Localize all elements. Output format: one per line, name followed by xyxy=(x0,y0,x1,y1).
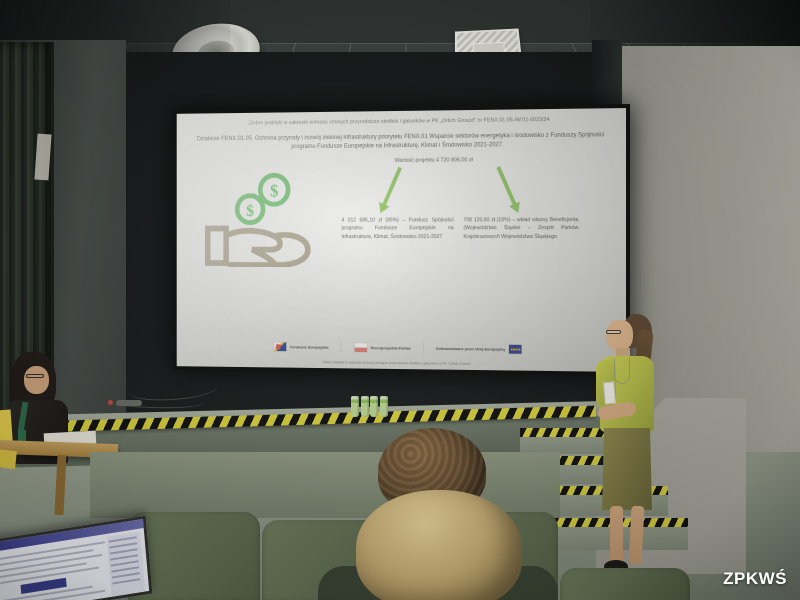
presenter-person xyxy=(592,308,666,600)
svg-text:$: $ xyxy=(270,181,279,201)
presentation-slide: „Dobre praktyki w zakresie ochrony cenny… xyxy=(177,108,626,372)
logo-divider xyxy=(423,343,424,354)
logo-rzeczpospolita-polska: Rzeczpospolita Polska xyxy=(354,342,411,353)
arrow-down-left-icon xyxy=(382,167,402,206)
logo-label: Rzeczpospolita Polska xyxy=(371,345,411,351)
glasses-icon xyxy=(606,330,621,334)
logo-fundusze-europejskie: Fundusze Europejskie xyxy=(273,341,328,352)
water-bottle xyxy=(361,396,369,417)
logo-label: Dofinansowane przez Unię Europejską xyxy=(436,346,505,352)
polish-flag-logo-icon xyxy=(354,342,368,353)
microphone xyxy=(116,400,142,406)
presenter-leg xyxy=(610,506,623,564)
laptop-sidebar xyxy=(106,532,145,597)
slide-title: „Dobre praktyki w zakresie ochrony cenny… xyxy=(186,113,616,128)
audience-head-blond xyxy=(356,490,522,600)
logo-dofinansowane-ue: Dofinansowane przez Unię Europejską ★★★★ xyxy=(436,343,522,355)
watermark: ZPKWŚ xyxy=(723,569,787,589)
eu-flag-logo-icon: ★★★★ xyxy=(508,344,523,355)
auditorium-chair xyxy=(560,568,690,600)
svg-text:$: $ xyxy=(246,201,254,220)
slide-footer-text: Dobre praktyki w zakresie ochrony cennyc… xyxy=(177,359,626,368)
curtain-highlight xyxy=(34,134,51,181)
projection-screen-frame: „Dobre praktyki w zakresie ochrony cenny… xyxy=(173,104,630,376)
name-badge xyxy=(603,382,616,405)
presenter-leg xyxy=(628,506,644,565)
seated-person-face xyxy=(24,366,49,394)
logo-label: Fundusze Europejskie xyxy=(290,344,329,349)
lanyard xyxy=(614,358,630,384)
arrow-down-right-icon xyxy=(496,166,516,205)
hand-with-money-icon: $ $ xyxy=(202,170,321,267)
funding-right-text: 708 120,90 zł (15%) – wkład własny Benef… xyxy=(463,216,578,241)
water-bottle xyxy=(380,396,388,417)
projection-screen: „Dobre praktyki w zakresie ochrony cenny… xyxy=(177,108,626,372)
yellow-folder xyxy=(0,449,17,469)
slide-logo-bar: Fundusze Europejskie Rzeczpospolita Pols… xyxy=(177,340,626,356)
slide-body: $ $ 4 012 685,10 zł (85%) – Fundusz Spój… xyxy=(186,164,616,268)
slide-subtitle: Działanie FENX.01.05. Ochrona przyrody i… xyxy=(186,130,616,153)
water-bottles-group xyxy=(351,396,388,417)
water-bottle xyxy=(351,396,359,417)
presenter-skirt xyxy=(602,428,652,510)
logo-divider xyxy=(341,342,342,353)
glasses-icon xyxy=(26,374,44,378)
funding-left-text: 4 012 685,10 zł (85%) – Fundusz Spójnośc… xyxy=(341,216,453,241)
conference-room-scene: „Dobre praktyki w zakresie ochrony cenny… xyxy=(0,0,800,600)
water-bottle xyxy=(370,396,378,417)
fundusze-europejskie-logo-icon xyxy=(273,341,287,352)
